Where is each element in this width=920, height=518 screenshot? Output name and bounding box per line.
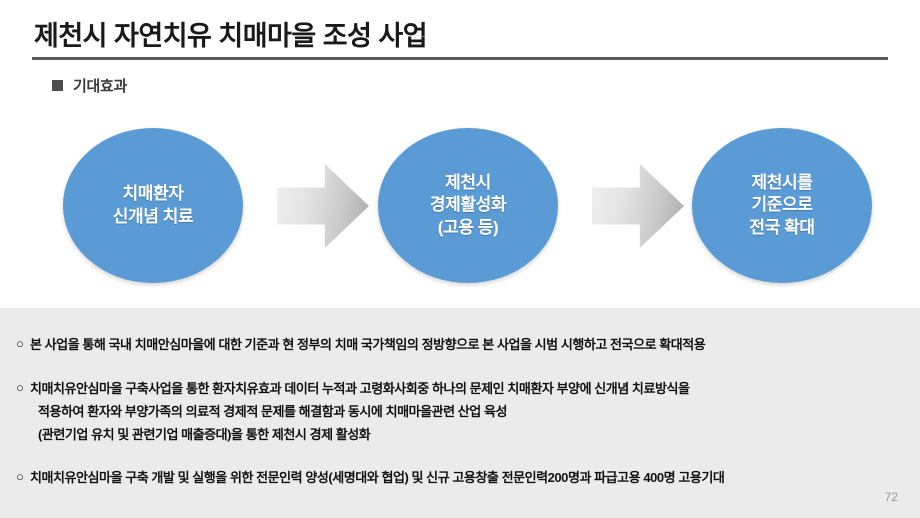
circle-bullet-icon: ○ bbox=[16, 467, 30, 487]
list-item: ○ 치매치유안심마을 구축사업을 통한 환자치유효과 데이터 누적과 고령화사회… bbox=[16, 378, 896, 446]
bullet-line: (관련기업 유치 및 관련기업 매출증대)을 통한 제천시 경제 활성화 bbox=[30, 424, 896, 447]
flow-node-2: 제천시 경제활성화 (고용 등) bbox=[378, 128, 558, 283]
bullet-line: 본 사업을 통해 국내 치매안심마을에 대한 기준과 현 정부의 치매 국가책임… bbox=[30, 334, 896, 357]
section-heading: 기대효과 bbox=[52, 75, 127, 96]
flow-node-1-label: 치매환자 신개념 치료 bbox=[113, 183, 194, 227]
square-bullet-icon bbox=[52, 80, 63, 91]
bullet-line: 치매치유안심마을 구축사업을 통한 환자치유효과 데이터 누적과 고령화사회중 … bbox=[30, 378, 896, 401]
list-item: ○ 치매치유안심마을 구축 개발 및 실행을 위한 전문인력 양성(세명대와 협… bbox=[16, 467, 896, 490]
bullet-line: 적용하여 환자와 부양가족의 의료적 경제적 문제를 해결함과 동시에 치매마을… bbox=[30, 401, 896, 424]
page-number: 72 bbox=[885, 490, 898, 504]
flow-diagram: 치매환자 신개념 치료 제천시 경제활성화 (고용 등) 제천시를 기준으로 전… bbox=[0, 128, 920, 308]
circle-bullet-icon: ○ bbox=[16, 334, 30, 354]
title-block: 제천시 자연치유 치매마을 조성 사업 bbox=[0, 0, 920, 62]
bullet-text-2: 치매치유안심마을 구축사업을 통한 환자치유효과 데이터 누적과 고령화사회중 … bbox=[30, 378, 896, 446]
bullet-text-1: 본 사업을 통해 국내 치매안심마을에 대한 기준과 현 정부의 치매 국가책임… bbox=[30, 334, 896, 357]
list-item: ○ 본 사업을 통해 국내 치매안심마을에 대한 기준과 현 정부의 치매 국가… bbox=[16, 334, 896, 357]
body-panel: ○ 본 사업을 통해 국내 치매안심마을에 대한 기준과 현 정부의 치매 국가… bbox=[0, 308, 920, 518]
bullet-text-3: 치매치유안심마을 구축 개발 및 실행을 위한 전문인력 양성(세명대와 협업)… bbox=[30, 467, 896, 490]
flow-node-1: 치매환자 신개념 치료 bbox=[63, 128, 243, 283]
circle-bullet-icon: ○ bbox=[16, 378, 30, 398]
section-heading-label: 기대효과 bbox=[73, 75, 127, 96]
bullet-line: 치매치유안심마을 구축 개발 및 실행을 위한 전문인력 양성(세명대와 협업)… bbox=[30, 467, 896, 490]
page-title: 제천시 자연치유 치매마을 조성 사업 bbox=[34, 14, 427, 53]
flow-node-3: 제천시를 기준으로 전국 확대 bbox=[692, 128, 872, 283]
flow-node-3-label: 제천시를 기준으로 전국 확대 bbox=[749, 172, 814, 238]
right-arrow-icon bbox=[277, 164, 369, 248]
flow-node-2-label: 제천시 경제활성화 (고용 등) bbox=[430, 172, 506, 238]
slide: 제천시 자연치유 치매마을 조성 사업 기대효과 치매환자 신개념 치료 제천시… bbox=[0, 0, 920, 518]
right-arrow-icon bbox=[592, 164, 684, 248]
title-divider bbox=[32, 57, 888, 60]
